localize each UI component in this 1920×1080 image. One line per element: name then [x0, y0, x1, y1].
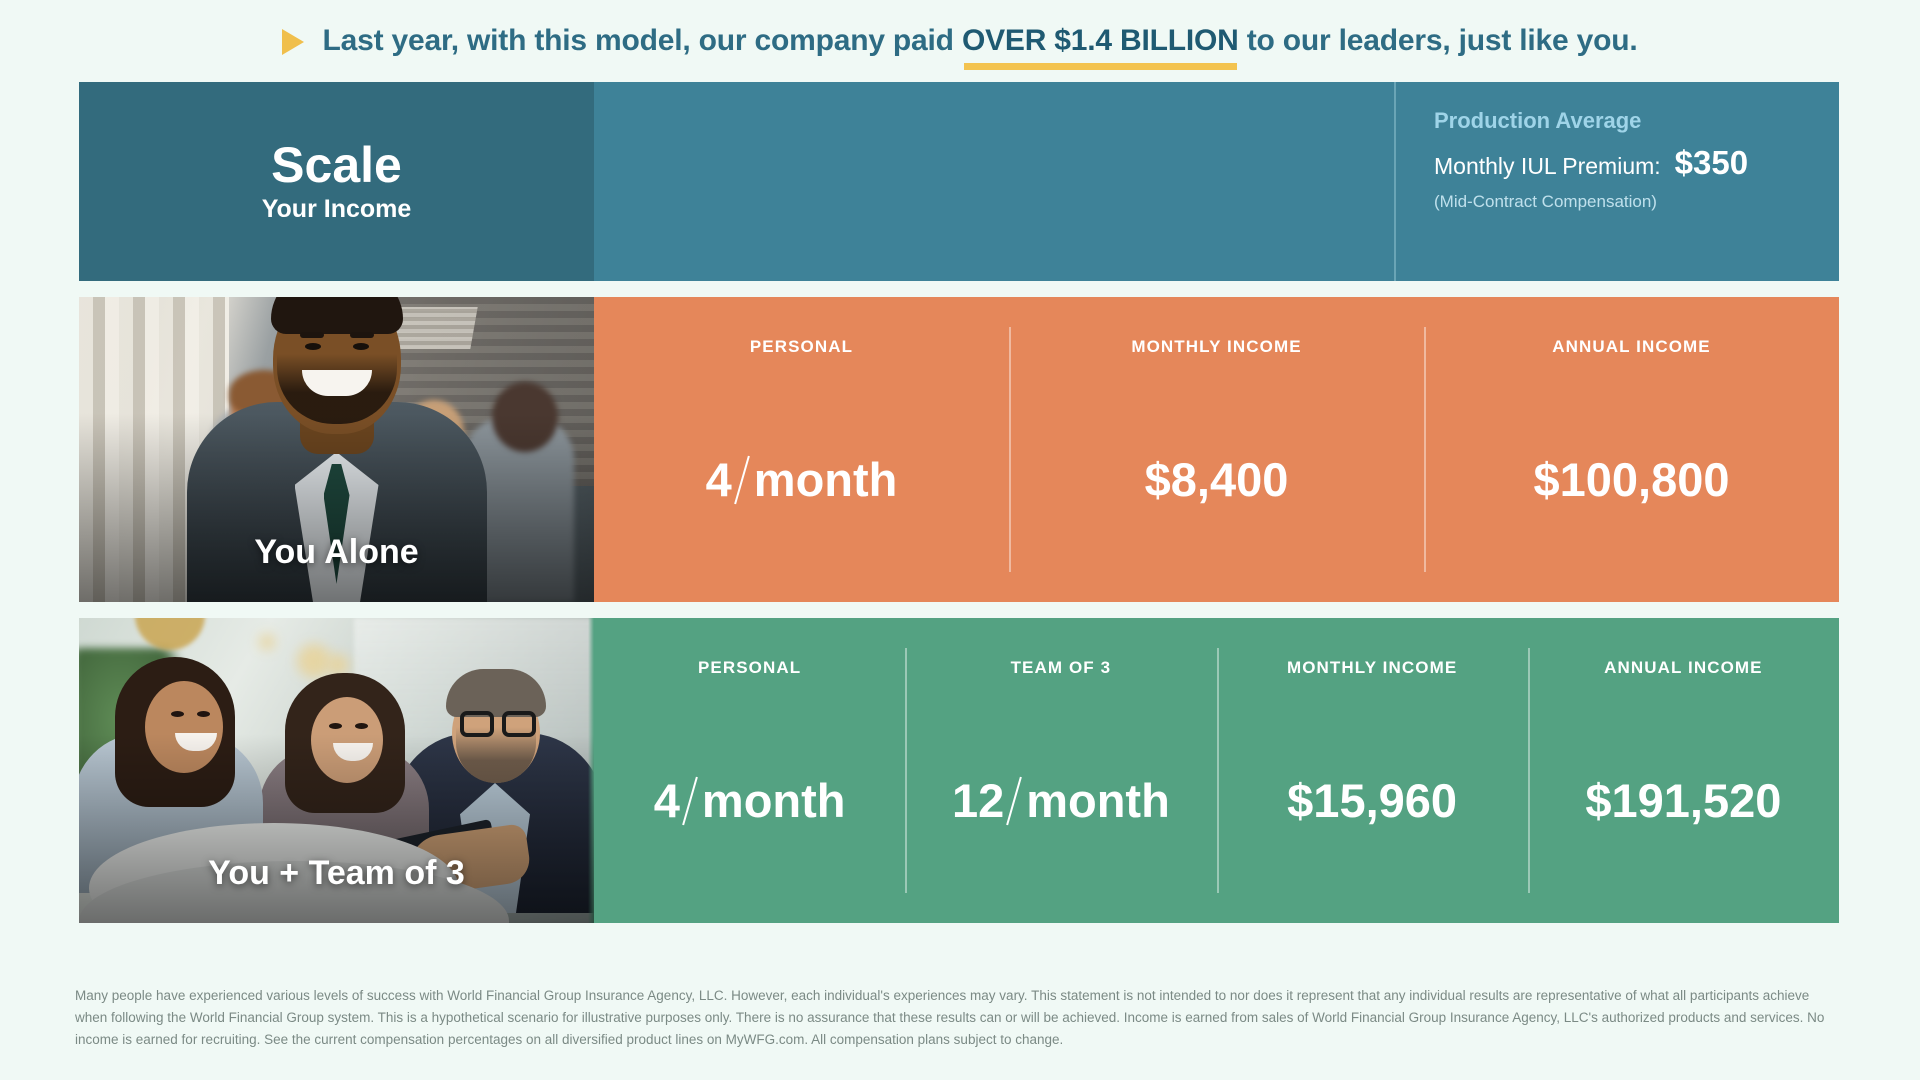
column-value: $15,960 [1287, 773, 1457, 828]
headline-after: to our leaders, just like you. [1239, 24, 1638, 57]
column-header: MONTHLY INCOME [1131, 337, 1301, 357]
headline-underline [964, 63, 1237, 70]
column-value-number: 4 [706, 452, 732, 507]
row-you-plus-team: You + Team of 3 PERSONAL 4 month TEAM OF… [79, 618, 1839, 923]
headline-emphasis-text: OVER $1.4 BILLION [962, 24, 1239, 57]
column-value: $8,400 [1145, 452, 1289, 507]
column-value: $191,520 [1585, 773, 1781, 828]
column-value-unit: month [754, 452, 898, 507]
team-meeting-photo: You + Team of 3 [79, 618, 594, 923]
column-personal: PERSONAL 4 month [594, 618, 905, 923]
column-monthly-income: MONTHLY INCOME $15,960 [1217, 618, 1528, 923]
row-gap [79, 602, 1839, 618]
column-value: 4 month [654, 773, 846, 828]
production-average-note: (Mid-Contract Compensation) [1434, 192, 1839, 212]
headline-text: Last year, with this model, our company … [322, 24, 1637, 58]
header-band-spacer [594, 82, 1394, 281]
band-gap [79, 281, 1839, 297]
column-value: 4 month [706, 452, 898, 507]
scale-title-main: Scale [271, 139, 402, 192]
column-monthly-income: MONTHLY INCOME $8,400 [1009, 297, 1424, 602]
column-header: PERSONAL [698, 658, 801, 678]
column-value-number: 4 [654, 773, 680, 828]
column-annual-income: ANNUAL INCOME $191,520 [1528, 618, 1839, 923]
slash-separator-icon [734, 455, 750, 504]
row-you-alone-columns: PERSONAL 4 month MONTHLY INCOME $8,400 A… [594, 297, 1839, 602]
column-header: ANNUAL INCOME [1604, 658, 1763, 678]
disclaimer-text: Many people have experienced various lev… [75, 985, 1840, 1051]
scale-title-block: Scale Your Income [79, 82, 594, 281]
row-you-plus-team-columns: PERSONAL 4 month TEAM OF 3 12 month MONT… [594, 618, 1839, 923]
column-header: ANNUAL INCOME [1552, 337, 1711, 357]
play-triangle-icon [282, 29, 304, 55]
header-band: Scale Your Income Production Average Mon… [79, 82, 1839, 281]
headline-banner: Last year, with this model, our company … [0, 0, 1920, 82]
column-header: MONTHLY INCOME [1287, 658, 1457, 678]
headline-emphasis: OVER $1.4 BILLION [962, 24, 1239, 58]
production-average-block: Production Average Monthly IUL Premium: … [1394, 82, 1839, 281]
column-annual-income: ANNUAL INCOME $100,800 [1424, 297, 1839, 602]
column-value-number: 12 [952, 773, 1004, 828]
premium-label: Monthly IUL Premium: [1434, 153, 1661, 180]
production-average-label: Production Average [1434, 108, 1839, 134]
column-value: 12 month [952, 773, 1170, 828]
column-value-unit: month [1026, 773, 1170, 828]
smiling-businessman-photo: You Alone [79, 297, 594, 602]
scale-title-sub: Your Income [262, 195, 412, 224]
comp-panel: Scale Your Income Production Average Mon… [79, 82, 1839, 923]
slash-separator-icon [682, 776, 698, 825]
row-caption-you-alone: You Alone [79, 533, 594, 572]
column-team-of-3: TEAM OF 3 12 month [905, 618, 1216, 923]
row-you-alone: You Alone PERSONAL 4 month MONTHLY INCOM… [79, 297, 1839, 602]
production-average-premium-line: Monthly IUL Premium: $350 [1434, 144, 1839, 182]
column-value: $100,800 [1533, 452, 1729, 507]
row-caption-you-plus-team: You + Team of 3 [79, 854, 594, 893]
column-header: PERSONAL [750, 337, 853, 357]
column-value-unit: month [702, 773, 846, 828]
slash-separator-icon [1006, 776, 1022, 825]
premium-value: $350 [1675, 144, 1748, 182]
column-personal: PERSONAL 4 month [594, 297, 1009, 602]
headline-before: Last year, with this model, our company … [322, 24, 961, 57]
column-header: TEAM OF 3 [1011, 658, 1112, 678]
